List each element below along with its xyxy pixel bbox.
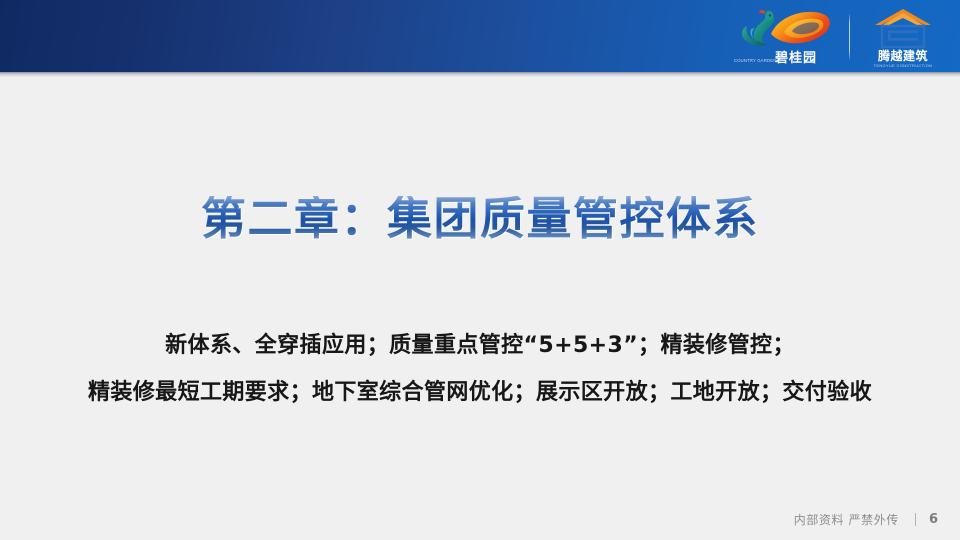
- country-garden-cn-name: 碧桂园: [775, 52, 817, 65]
- slide-footer: 内部资料 严禁外传 6: [794, 513, 938, 526]
- tengyue-cn-name: 腾越建筑: [864, 50, 942, 62]
- confidential-note: 内部资料 严禁外传: [794, 514, 899, 526]
- chapter-title: 第二章：集团质量管控体系: [201, 196, 759, 241]
- chapter-title-reflection-mask: 第二章：集团质量管控体系: [0, 254, 960, 288]
- page-number: 6: [929, 513, 938, 526]
- chapter-title-block: 第二章：集团质量管控体系 第二章：集团质量管控体系: [0, 196, 960, 288]
- chapter-title-reflection: 第二章：集团质量管控体系: [201, 254, 759, 255]
- country-garden-en-name: COUNTRY GARDEN: [734, 58, 772, 63]
- tengyue-logo: 腾越建筑 TENGYUE CONSTRUCTION: [864, 6, 942, 68]
- tengyue-en-name: TENGYUE CONSTRUCTION: [864, 64, 942, 68]
- footer-separator: [915, 513, 916, 526]
- agenda-line-2: 精装修最短工期要求；地下室综合管网优化；展示区开放；工地开放；交付验收: [0, 369, 960, 416]
- agenda-text-block: 新体系、全穿插应用；质量重点管控“5+5+3”；精装修管控； 精装修最短工期要求…: [0, 322, 960, 416]
- slide-root: COUNTRY GARDEN 碧桂园 腾越建筑 TENGYUE CONSTRUC…: [0, 0, 960, 540]
- house-roof-icon: [873, 8, 933, 48]
- agenda-line-1: 新体系、全穿插应用；质量重点管控“5+5+3”；精装修管控；: [0, 322, 960, 369]
- header-shadow-divider: [0, 72, 960, 77]
- country-garden-logo: COUNTRY GARDEN 碧桂园: [731, 6, 839, 68]
- logo-lockup: COUNTRY GARDEN 碧桂园 腾越建筑 TENGYUE CONSTRUC…: [731, 4, 942, 70]
- phoenix-swoosh-icon: [735, 8, 835, 48]
- logo-divider: [849, 14, 850, 60]
